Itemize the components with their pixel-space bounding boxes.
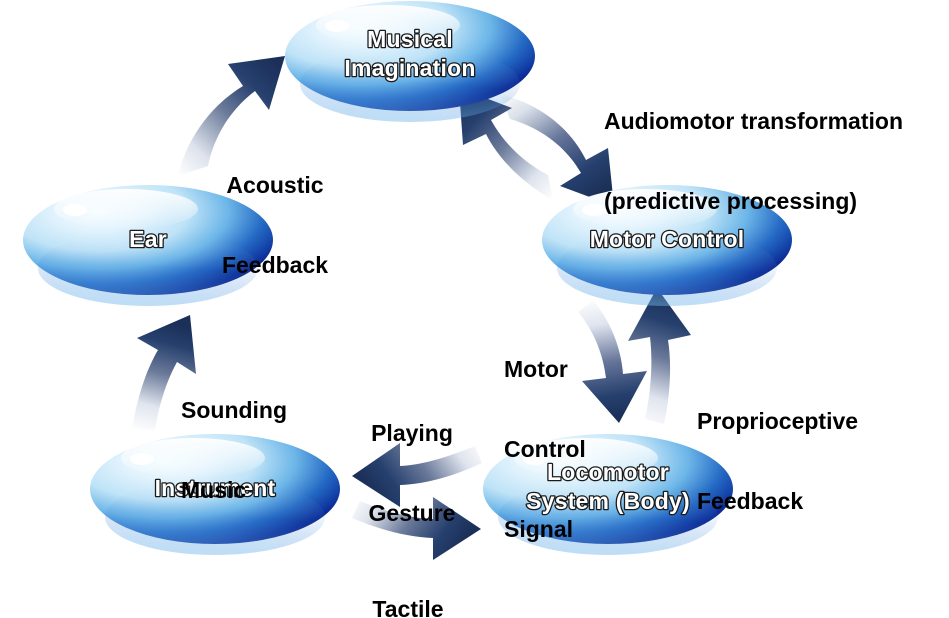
edge-label-line2: Feedback (205, 252, 345, 279)
edge-label-sounding-music: Sounding Music (181, 344, 287, 557)
node-label-line1: Musical (367, 26, 453, 52)
edge-label-motor-control-signal: Motor Control Signal (504, 303, 586, 596)
edge-label-line1: Tactile (343, 596, 473, 618)
edge-label-line2: Feedback (697, 488, 858, 515)
edge-label-line2: Control (504, 436, 586, 463)
diagram-canvas: Musical Imagination Motor Control Ear In… (0, 0, 949, 618)
edge-label-line3: Signal (504, 516, 586, 543)
edge-label-audiomotor-transformation: Audiomotor transformation (predictive pr… (604, 55, 903, 268)
edge-label-line1: Motor (504, 356, 586, 383)
edge-label-line1: Playing (352, 420, 472, 447)
node-label-line1: Ear (129, 226, 167, 252)
node-musical-imagination[interactable]: Musical Imagination (285, 1, 535, 122)
edge-label-line2: (predictive processing) (604, 188, 903, 215)
node-specular-dot (582, 204, 606, 216)
node-specular-dot (130, 453, 154, 465)
edge-label-line1: Acoustic (205, 172, 345, 199)
arrow-motor-control-signal (578, 300, 647, 423)
arrow-proprioceptive-feedback (628, 288, 691, 424)
edge-label-tactile-feedback: Tactile Feedback (343, 543, 473, 618)
arrow-audiomotor-down (500, 94, 614, 206)
node-specular-dot (325, 20, 349, 32)
node-specular-dot (63, 204, 87, 216)
node-label-line2: Imagination (344, 55, 475, 81)
edge-label-line1: Proprioceptive (697, 408, 858, 435)
edge-label-proprioceptive-feedback: Proprioceptive Feedback (697, 355, 858, 568)
edge-label-line2: Music (181, 477, 287, 504)
edge-label-line2: Gesture (352, 500, 472, 527)
edge-label-line1: Sounding (181, 397, 287, 424)
edge-label-acoustic-feedback: Acoustic Feedback (205, 119, 345, 332)
edge-label-line1: Audiomotor transformation (604, 108, 903, 135)
